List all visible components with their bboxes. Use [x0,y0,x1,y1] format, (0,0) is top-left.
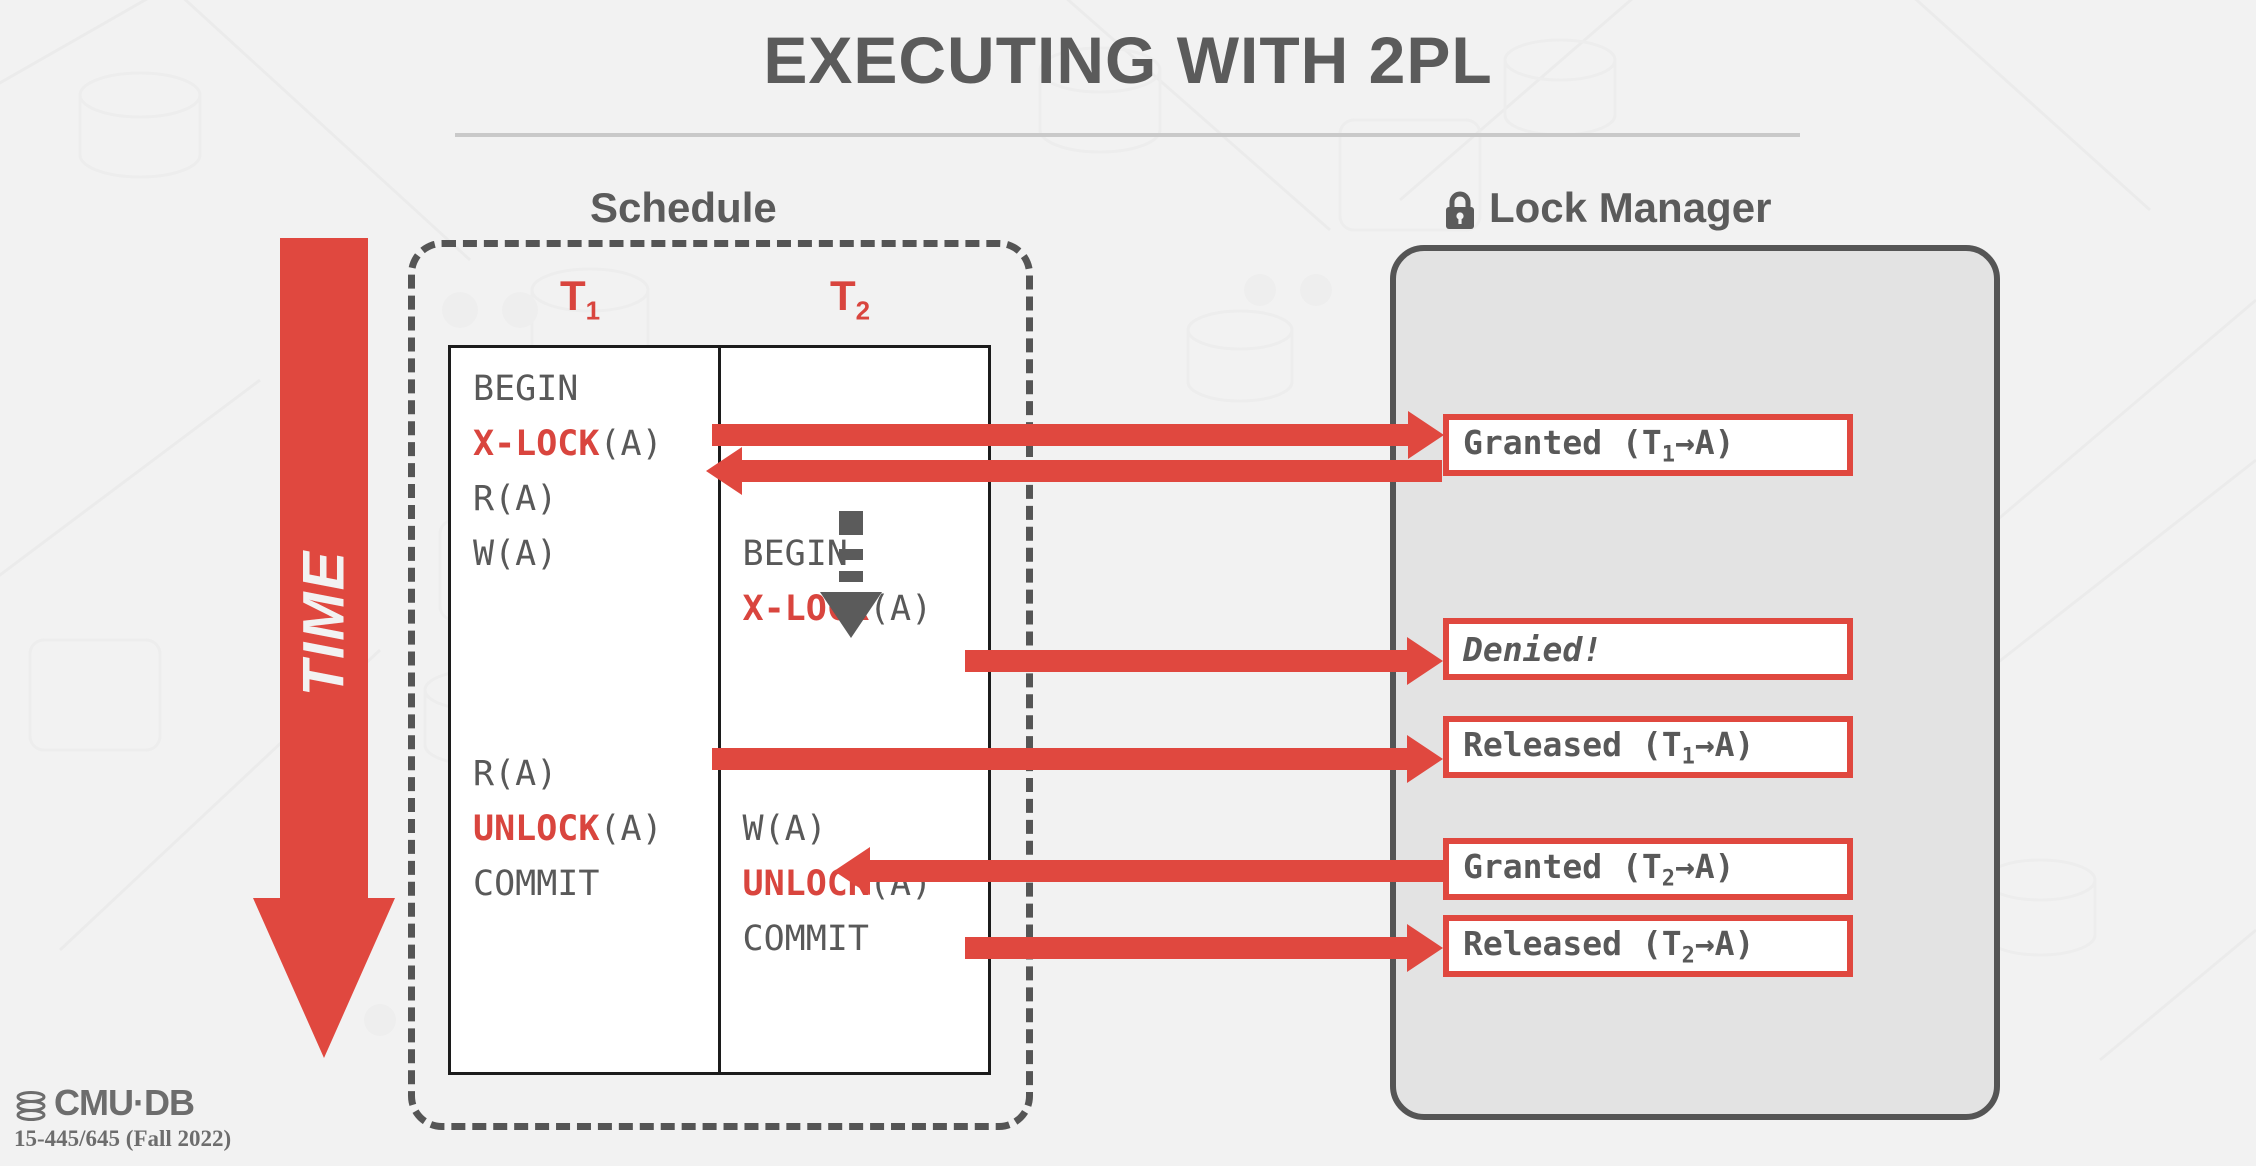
op-text [473,644,494,684]
schedule-column-t1: BEGINX-LOCK(A)R(A)W(A) R(A)UNLOCK(A)COMM… [451,348,721,1072]
arrow-granted-t2-response [834,860,1444,882]
brand-label: CMU·DB [54,1082,194,1124]
op-text: R(A) [473,479,557,519]
page-title: EXECUTING WITH 2PL [0,22,2256,98]
lock-entry: Granted (T1→A) [1443,414,1853,476]
course-label: 15-445/645 (Fall 2022) [14,1126,231,1152]
wait-dash-icon-2 [839,571,863,582]
lock-entry-text: Denied! [1463,630,1602,669]
op-text: (A) [599,809,662,849]
op-text: W(A) [473,534,557,574]
time-axis-arrow: TIME [253,238,395,1058]
op-text [473,699,494,739]
op-text [743,369,764,409]
op-text: COMMIT [473,864,599,904]
t2-op-5 [743,637,989,692]
waiting-indicator [821,511,881,638]
lock-entry-text: Granted (T2→A) [1463,847,1735,892]
lock-entry: Released (T1→A) [1443,716,1853,778]
lock-manager-heading: Lock Manager [1443,184,1771,232]
wait-triangle-icon [820,592,882,638]
t2-op-10: COMMIT [743,912,989,967]
time-axis-label: TIME [291,550,358,697]
lock-manager-heading-label: Lock Manager [1489,184,1771,232]
footer: CMU·DB 15-445/645 (Fall 2022) [14,1082,231,1152]
cmudb-logo: CMU·DB [14,1082,231,1124]
txn-column-label-t1: T1 [560,272,600,326]
t2-op-6 [743,692,989,747]
title-divider [455,133,1800,137]
txn-column-label-t2: T2 [830,272,870,326]
t1-op-1: X-LOCK(A) [473,417,718,472]
lock-entry-text: Released (T1→A) [1463,725,1754,770]
lock-manager-panel [1390,245,2000,1120]
t2-op-0 [743,362,989,417]
t1-op-5 [473,637,718,692]
t1-op-4 [473,582,718,637]
arrow-unlock-t2-request [965,937,1445,959]
lock-entry: Released (T2→A) [1443,915,1853,977]
t1-op-7: R(A) [473,747,718,802]
arrow-unlock-t1-request [712,748,1445,770]
op-text: R(A) [473,754,557,794]
t1-op-2: R(A) [473,472,718,527]
lock-icon [1443,191,1477,231]
op-text [743,699,764,739]
lock-entry: Granted (T2→A) [1443,838,1853,900]
op-text: BEGIN [473,369,578,409]
op-text: W(A) [743,809,827,849]
op-text: COMMIT [743,919,869,959]
arrow-granted-t1-response [706,460,1442,482]
op-keyword: X-LOCK [473,424,599,464]
wait-square-icon [839,511,863,535]
t1-op-0: BEGIN [473,362,718,417]
lock-entry-text: Released (T2→A) [1463,924,1754,969]
schedule-heading: Schedule [590,184,777,232]
wait-dash-icon-1 [839,549,863,560]
op-text [743,644,764,684]
arrow-xlock-t1-request [712,424,1442,446]
t1-op-3: W(A) [473,527,718,582]
op-text [473,589,494,629]
lock-entry-text: Granted (T1→A) [1463,423,1735,468]
op-keyword: UNLOCK [473,809,599,849]
lock-entry: Denied! [1443,618,1853,680]
op-text: (A) [599,424,662,464]
database-icon [14,1088,48,1118]
t1-op-9: COMMIT [473,857,718,912]
schedule-column-t2: BEGINX-LOCK(A) W(A)UNLOCK(A)COMMIT [721,348,989,1072]
t1-op-8: UNLOCK(A) [473,802,718,857]
op-text [743,479,764,519]
arrow-xlock-t2-request [965,650,1445,672]
t1-op-6 [473,692,718,747]
